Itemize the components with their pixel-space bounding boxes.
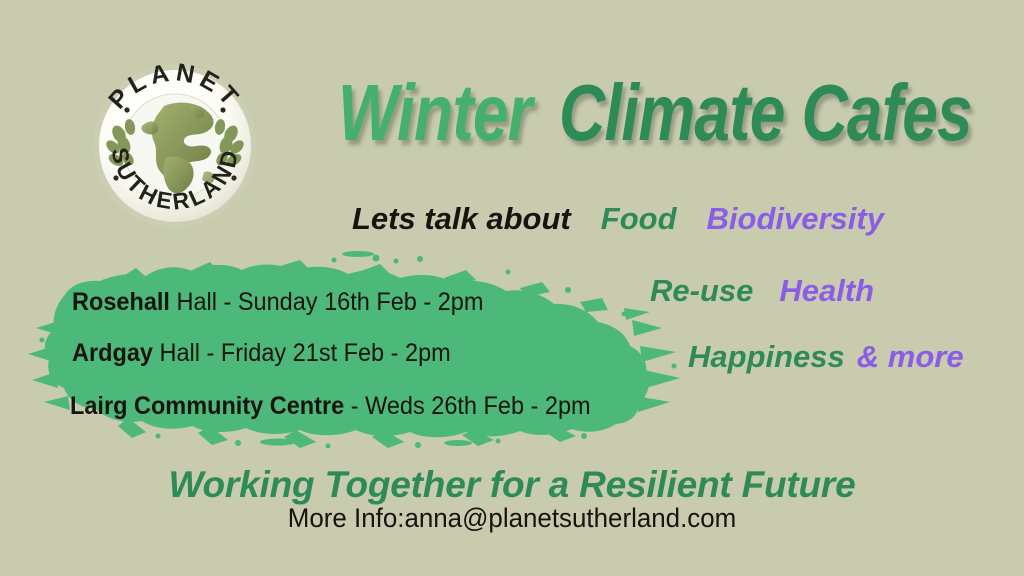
topic-biodiversity: Biodiversity [707, 201, 884, 236]
event-details: - Weds 26th Feb - 2pm [344, 392, 590, 420]
topic-happiness: Happiness [688, 339, 845, 374]
title-word-climate-cafes: Climate Cafes [559, 68, 972, 157]
page-title: WinterClimate Cafes [338, 63, 866, 163]
event-line: Ardgay Hall - Friday 21st Feb - 2pm [72, 341, 451, 366]
planet-sutherland-logo: PLANET SUTHERLAND [86, 54, 264, 236]
contact-info: More Info:anna@planetsutherland.com [20, 505, 1003, 532]
tagline: Working Together for a Resilient Future [0, 466, 1024, 503]
poster-canvas: PLANET SUTHERLAND WinterClimate Cafes Le… [0, 0, 1024, 576]
topics-row-1: Lets talk aboutFoodBiodiversity [352, 203, 884, 234]
event-details: Hall - Sunday 16th Feb - 2pm [170, 288, 483, 316]
event-details: Hall - Friday 21st Feb - 2pm [153, 339, 451, 367]
title-word-winter: Winter [338, 68, 532, 157]
event-venue: Ardgay [72, 339, 153, 367]
topics-lead-in: Lets talk about [352, 201, 571, 236]
event-venue: Lairg Community Centre [70, 392, 344, 420]
topic-food: Food [601, 201, 677, 236]
event-line: Lairg Community Centre - Weds 26th Feb -… [70, 394, 591, 419]
topic-and-more: & more [857, 339, 964, 374]
topic-health: Health [779, 273, 874, 308]
event-line: Rosehall Hall - Sunday 16th Feb - 2pm [72, 290, 483, 315]
topics-row-3: Happiness& more [688, 341, 964, 372]
event-venue: Rosehall [72, 288, 170, 316]
